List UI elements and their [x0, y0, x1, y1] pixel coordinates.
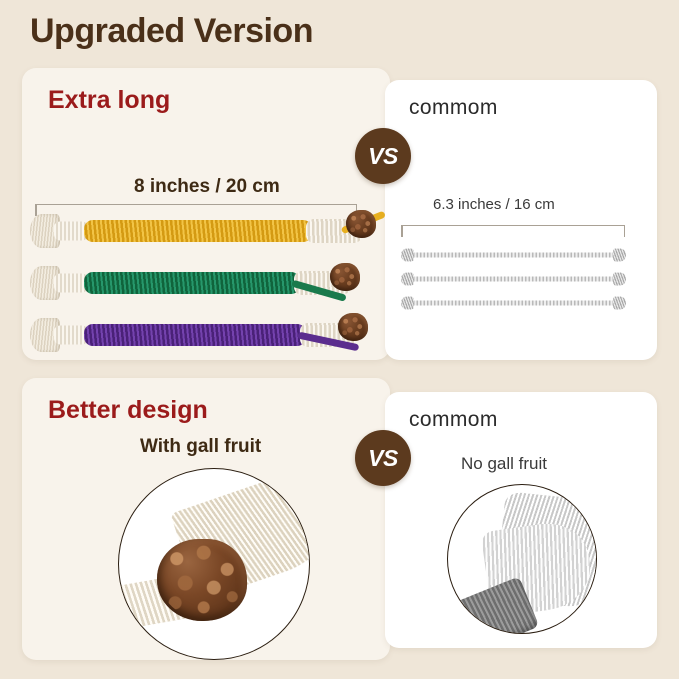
detail-label-with-gall-fruit: With gall fruit	[140, 436, 261, 458]
detail-circle-gall-fruit	[118, 468, 310, 660]
plain-rope-knob-left	[401, 297, 414, 310]
card-better-design: Better design With gall fruit	[22, 378, 390, 660]
plain-rope-knob-right	[613, 297, 626, 310]
detail-label-no-gall-fruit: No gall fruit	[461, 454, 547, 474]
rope-colored-section	[84, 220, 312, 242]
plain-rope-knob-right	[613, 273, 626, 286]
plain-rope-knob-right	[613, 249, 626, 262]
vs-badge-length: VS	[355, 128, 411, 184]
plain-rope	[399, 298, 629, 308]
rope-neck	[54, 222, 88, 241]
gall-fruit-icon	[330, 263, 360, 291]
plain-rope-knob-left	[401, 273, 414, 286]
rope-neck	[54, 274, 88, 293]
page-title: Upgraded Version	[30, 12, 313, 51]
rope-toy-yellow	[30, 218, 380, 244]
card-heading-better-design: Better design	[48, 396, 208, 425]
rope-colored-section	[84, 324, 306, 346]
gall-fruit-icon	[338, 313, 368, 341]
plain-rope-body	[411, 277, 617, 282]
vs-badge-design: VS	[355, 430, 411, 486]
card-common-length: commom 6.3 inches / 16 cm	[385, 80, 657, 360]
gall-fruit-icon	[346, 210, 376, 238]
plain-rope-body	[411, 301, 617, 306]
card-extra-long: Extra long 8 inches / 20 cm	[22, 68, 390, 360]
rope-neck	[54, 326, 88, 345]
plain-ropes-group	[385, 80, 657, 360]
plain-rope	[399, 274, 629, 284]
rope-toy-purple	[30, 322, 380, 348]
card-heading-common-design: commom	[409, 408, 498, 432]
rope-toy-green	[30, 270, 380, 296]
plain-rope	[399, 250, 629, 260]
plain-rope-body	[411, 253, 617, 258]
card-common-design: commom No gall fruit	[385, 392, 657, 648]
rope-colored-section	[84, 272, 300, 294]
detail-circle-no-gall-fruit	[447, 484, 597, 634]
plain-rope-knob-left	[401, 249, 414, 262]
rope-toys-group	[22, 68, 390, 360]
gall-fruit-icon	[157, 539, 247, 621]
